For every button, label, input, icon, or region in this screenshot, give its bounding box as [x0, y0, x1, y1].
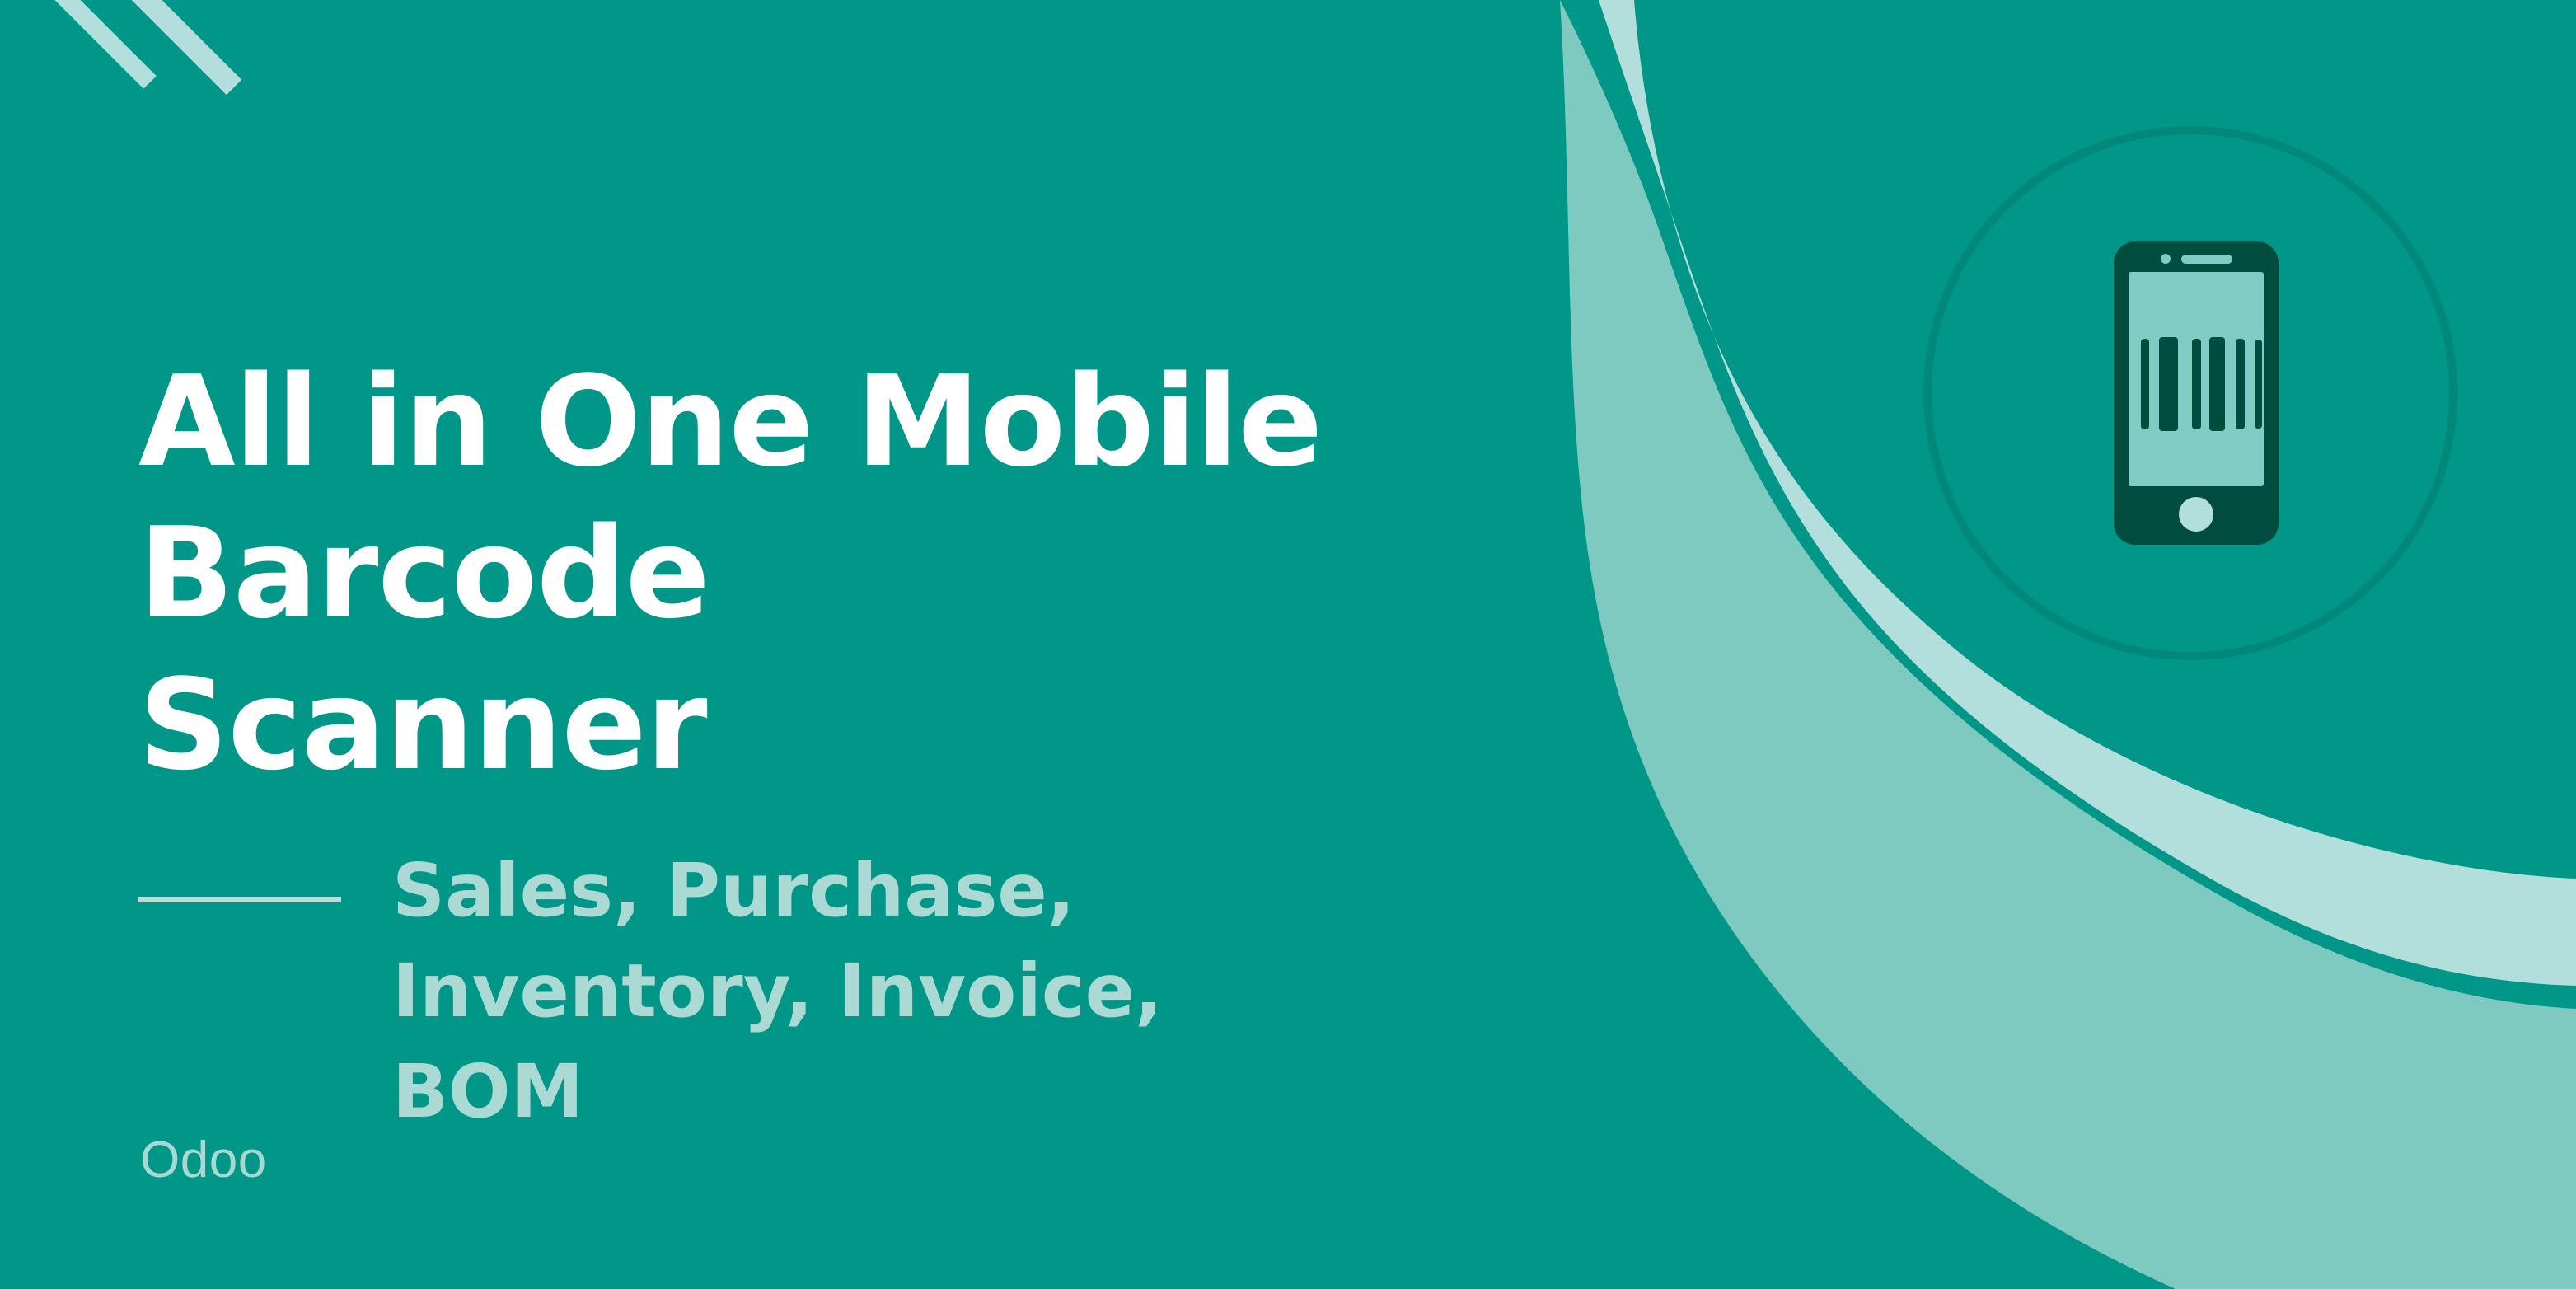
phone-camera [2161, 254, 2171, 264]
headline-block: All in One Mobile Barcode Scanner Sales,… [138, 346, 1754, 1141]
smartphone-icon [2114, 241, 2279, 545]
subtitle-row: Sales, Purchase, Inventory, Invoice, BOM [138, 841, 1754, 1142]
slide-canvas: All in One Mobile Barcode Scanner Sales,… [0, 0, 2576, 1289]
phone-home-button [2179, 497, 2213, 532]
page-title: All in One Mobile Barcode Scanner [138, 346, 1754, 801]
subtitle-rule [138, 897, 341, 902]
phone-speaker [2181, 255, 2232, 264]
brand-label: Odoo [140, 1131, 267, 1189]
page-subtitle: Sales, Purchase, Inventory, Invoice, BOM [392, 841, 1315, 1142]
